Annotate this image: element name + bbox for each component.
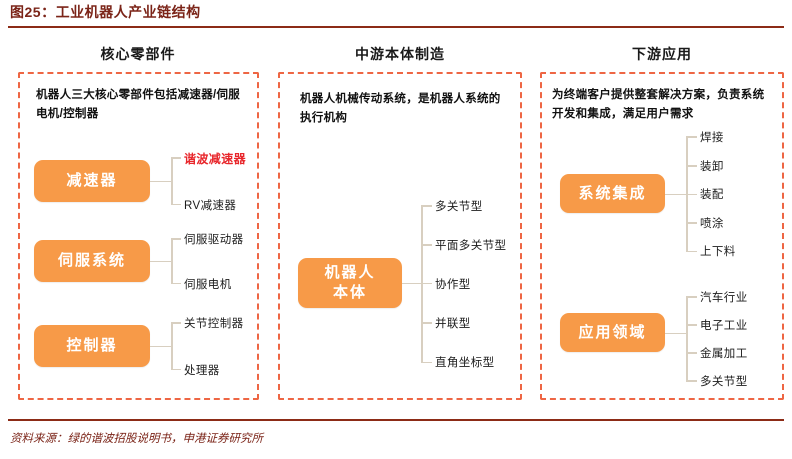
- panel-description-downstream: 为终端客户提供整套解决方案，负责系统开发和集成，满足用户需求: [552, 86, 774, 124]
- connector-line: [686, 165, 697, 167]
- connector-line: [171, 238, 173, 284]
- connector-line: [150, 261, 172, 263]
- node-application-field[interactable]: 应用领域: [560, 313, 665, 352]
- leaf-metal-processing[interactable]: 金属加工: [700, 345, 748, 361]
- node-robot-body[interactable]: 机器人 本体: [298, 258, 402, 308]
- leaf-processor[interactable]: 处理器: [184, 362, 220, 378]
- leaf-servo-driver[interactable]: 伺服驱动器: [184, 231, 244, 247]
- leaf-harmonic-reducer[interactable]: 谐波减速器: [184, 150, 246, 167]
- leaf-servo-motor[interactable]: 伺服电机: [184, 276, 232, 292]
- connector-line: [686, 296, 688, 381]
- leaf-assembly[interactable]: 装配: [700, 186, 724, 202]
- connector-line: [150, 346, 172, 348]
- connector-line: [171, 238, 181, 240]
- title-divider: [8, 26, 784, 28]
- connector-line: [171, 283, 181, 285]
- node-robot-body-line2: 本体: [333, 283, 367, 303]
- footer-divider: [8, 419, 784, 421]
- connector-line: [402, 283, 422, 285]
- leaf-cartesian[interactable]: 直角坐标型: [435, 354, 495, 370]
- node-robot-body-line1: 机器人: [324, 263, 375, 283]
- connector-line: [421, 205, 432, 207]
- panel-description-midstream: 机器人机械传动系统，是机器人系统的执行机构: [300, 90, 506, 128]
- leaf-loading-unloading[interactable]: 装卸: [700, 158, 724, 174]
- connector-line: [150, 181, 172, 183]
- node-system-integration[interactable]: 系统集成: [560, 174, 665, 213]
- connector-line: [686, 194, 697, 196]
- connector-line: [171, 322, 181, 324]
- column-title-midstream: 中游本体制造: [278, 44, 522, 64]
- leaf-scara[interactable]: 平面多关节型: [435, 237, 506, 253]
- column-title-downstream: 下游应用: [540, 44, 784, 64]
- connector-line: [686, 296, 697, 298]
- leaf-articulated[interactable]: 多关节型: [435, 198, 483, 214]
- connector-line: [665, 194, 687, 196]
- connector-line: [171, 157, 173, 205]
- connector-line: [421, 283, 432, 285]
- page-title: 图25：工业机器人产业链结构: [10, 2, 201, 22]
- connector-line: [421, 244, 432, 246]
- source-note: 资料来源：绿的谐波招股说明书，申港证券研究所: [10, 430, 263, 446]
- leaf-electronics-industry[interactable]: 电子工业: [700, 317, 748, 333]
- leaf-welding[interactable]: 焊接: [700, 129, 724, 145]
- connector-line: [421, 322, 432, 324]
- connector-line: [686, 222, 697, 224]
- connector-line: [171, 322, 173, 370]
- leaf-material-handling[interactable]: 上下料: [700, 243, 736, 259]
- panel-description-upstream: 机器人三大核心零部件包括减速器/伺服电机/控制器: [36, 86, 248, 124]
- connector-line: [686, 251, 697, 253]
- connector-line: [171, 157, 181, 159]
- leaf-spraying[interactable]: 喷涂: [700, 215, 724, 231]
- connector-line: [665, 333, 687, 335]
- connector-line: [171, 369, 181, 371]
- connector-line: [421, 362, 432, 364]
- leaf-joint-controller[interactable]: 关节控制器: [184, 315, 244, 331]
- leaf-collaborative[interactable]: 协作型: [435, 276, 471, 292]
- node-controller[interactable]: 控制器: [34, 325, 150, 367]
- connector-line: [686, 136, 697, 138]
- connector-line: [171, 204, 181, 206]
- node-reducer[interactable]: 减速器: [34, 160, 150, 202]
- leaf-articulated-application[interactable]: 多关节型: [700, 373, 748, 389]
- column-title-upstream: 核心零部件: [18, 44, 258, 64]
- connector-line: [686, 324, 697, 326]
- leaf-rv-reducer[interactable]: RV减速器: [184, 197, 236, 213]
- leaf-parallel[interactable]: 并联型: [435, 315, 471, 331]
- leaf-automotive-industry[interactable]: 汽车行业: [700, 289, 748, 305]
- node-servo-system[interactable]: 伺服系统: [34, 240, 150, 282]
- connector-line: [686, 352, 697, 354]
- connector-line: [686, 380, 697, 382]
